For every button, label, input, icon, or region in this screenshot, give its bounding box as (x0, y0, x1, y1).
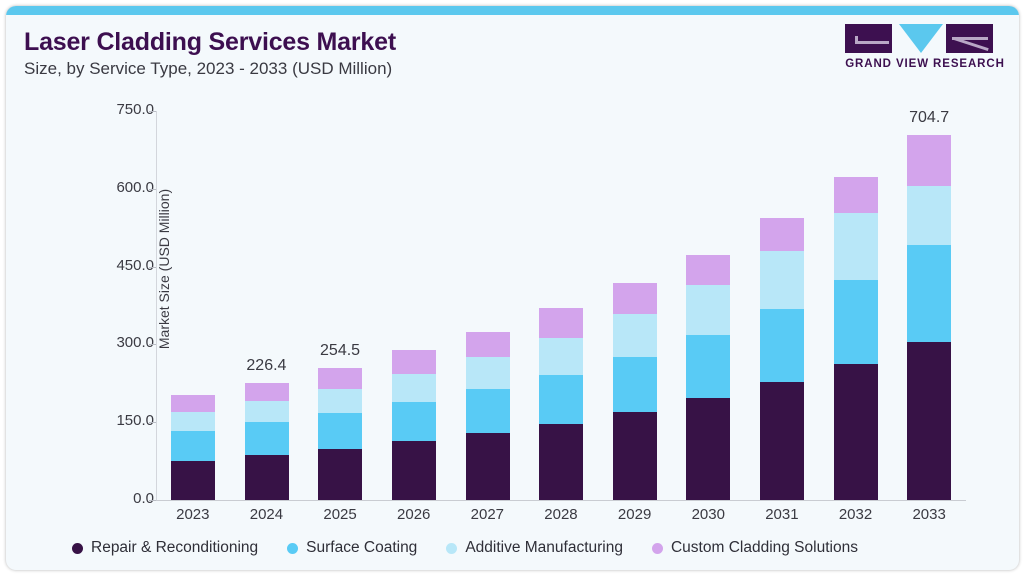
bar-segment[interactable] (834, 177, 878, 213)
y-axis-tick-mark (149, 189, 156, 190)
bar-segment[interactable] (686, 398, 730, 500)
bar-segment[interactable] (613, 283, 657, 314)
bar-segment[interactable] (245, 401, 289, 422)
bar-segment[interactable] (392, 350, 436, 374)
bar-segment[interactable] (834, 280, 878, 365)
y-axis-tick-mark (149, 111, 156, 112)
bar-segment[interactable] (466, 357, 510, 389)
x-axis-tick-label: 2026 (377, 506, 451, 523)
legend-swatch-icon (72, 543, 83, 554)
bar-segment[interactable] (907, 135, 951, 186)
x-axis-tick-label: 2023 (156, 506, 230, 523)
bar-segment[interactable] (907, 342, 951, 500)
x-axis-tick-label: 2032 (819, 506, 893, 523)
bar-segment[interactable] (318, 449, 362, 500)
y-axis-tick-mark (149, 500, 156, 501)
bar-segment[interactable] (834, 213, 878, 280)
legend-item[interactable]: Repair & Reconditioning (72, 539, 258, 557)
bar-segment[interactable] (686, 255, 730, 285)
bar-segment[interactable] (171, 395, 215, 412)
bar-segment[interactable] (171, 431, 215, 461)
bar-segment[interactable] (539, 338, 583, 375)
x-axis-tick-label: 2025 (303, 506, 377, 523)
legend-swatch-icon (287, 543, 298, 554)
legend-label: Repair & Reconditioning (91, 539, 258, 557)
logo-letter-r-icon (946, 24, 993, 53)
y-axis-line (156, 111, 157, 500)
bar-segment[interactable] (466, 332, 510, 357)
legend-item[interactable]: Surface Coating (287, 539, 417, 557)
bar-segment[interactable] (318, 413, 362, 448)
logo-g-bar (855, 41, 889, 44)
bar-segment[interactable] (245, 455, 289, 500)
x-axis-line (156, 500, 966, 501)
bar-segment[interactable] (613, 412, 657, 500)
chart-card: Laser Cladding Services Market Size, by … (6, 6, 1019, 570)
legend-swatch-icon (652, 543, 663, 554)
bar-segment[interactable] (539, 308, 583, 338)
legend-label: Custom Cladding Solutions (671, 539, 858, 557)
bar-segment[interactable] (392, 441, 436, 500)
bar-segment[interactable] (171, 461, 215, 500)
bar-value-label: 704.7 (892, 109, 966, 127)
x-axis-tick-label: 2024 (230, 506, 304, 523)
legend-label: Surface Coating (306, 539, 417, 557)
bar-segment[interactable] (907, 186, 951, 245)
bar-segment[interactable] (686, 285, 730, 335)
bar-segment[interactable] (171, 412, 215, 431)
top-accent-bar (6, 6, 1019, 15)
bar-segment[interactable] (760, 382, 804, 500)
y-axis-label: Market Size (USD Million) (156, 169, 172, 369)
bar-segment[interactable] (245, 422, 289, 454)
bar-segment[interactable] (318, 368, 362, 389)
x-axis-tick-label: 2029 (598, 506, 672, 523)
bar-segment[interactable] (466, 433, 510, 500)
bar-segment[interactable] (392, 402, 436, 441)
y-axis-tick-mark (149, 344, 156, 345)
bar-segment[interactable] (686, 335, 730, 398)
bar-segment[interactable] (834, 364, 878, 500)
bar-segment[interactable] (760, 309, 804, 382)
grand-view-research-logo: GRAND VIEW RESEARCH (845, 24, 1005, 80)
chart-plot-area: Market Size (USD Million) 0.0150.0300.04… (156, 111, 966, 500)
legend-item[interactable]: Custom Cladding Solutions (652, 539, 858, 557)
logo-g-stem (855, 36, 858, 43)
bar-segment[interactable] (392, 374, 436, 402)
legend-item[interactable]: Additive Manufacturing (446, 539, 623, 557)
chart-legend: Repair & ReconditioningSurface CoatingAd… (72, 539, 887, 557)
page-subtitle: Size, by Service Type, 2023 - 2033 (USD … (24, 59, 392, 79)
y-axis-tick-label: 150.0 (64, 412, 154, 429)
x-axis-tick-label: 2028 (524, 506, 598, 523)
bar-segment[interactable] (466, 389, 510, 433)
logo-text: GRAND VIEW RESEARCH (845, 58, 1005, 70)
bar-segment[interactable] (760, 218, 804, 251)
bar-segment[interactable] (539, 375, 583, 424)
y-axis-tick-label: 750.0 (64, 101, 154, 118)
bar-segment[interactable] (613, 357, 657, 412)
y-axis-tick-label: 0.0 (64, 490, 154, 507)
logo-letter-g-icon (845, 24, 892, 53)
bar-value-label: 254.5 (303, 342, 377, 360)
y-axis-tick-label: 450.0 (64, 257, 154, 274)
legend-swatch-icon (446, 543, 457, 554)
bar-value-label: 226.4 (230, 357, 304, 375)
page-title: Laser Cladding Services Market (24, 28, 396, 57)
y-axis-tick-label: 600.0 (64, 179, 154, 196)
x-axis-tick-label: 2031 (745, 506, 819, 523)
x-axis-tick-label: 2033 (892, 506, 966, 523)
bar-segment[interactable] (245, 383, 289, 402)
bar-segment[interactable] (760, 251, 804, 309)
bar-segment[interactable] (907, 245, 951, 343)
x-axis-tick-label: 2030 (671, 506, 745, 523)
bar-segment[interactable] (613, 314, 657, 357)
y-axis-tick-mark (149, 267, 156, 268)
bar-segment[interactable] (318, 389, 362, 413)
logo-triangle-v-icon (899, 24, 943, 53)
y-axis-tick-label: 300.0 (64, 334, 154, 351)
legend-label: Additive Manufacturing (465, 539, 623, 557)
bar-segment[interactable] (539, 424, 583, 501)
x-axis-tick-label: 2027 (451, 506, 525, 523)
y-axis-tick-mark (149, 422, 156, 423)
